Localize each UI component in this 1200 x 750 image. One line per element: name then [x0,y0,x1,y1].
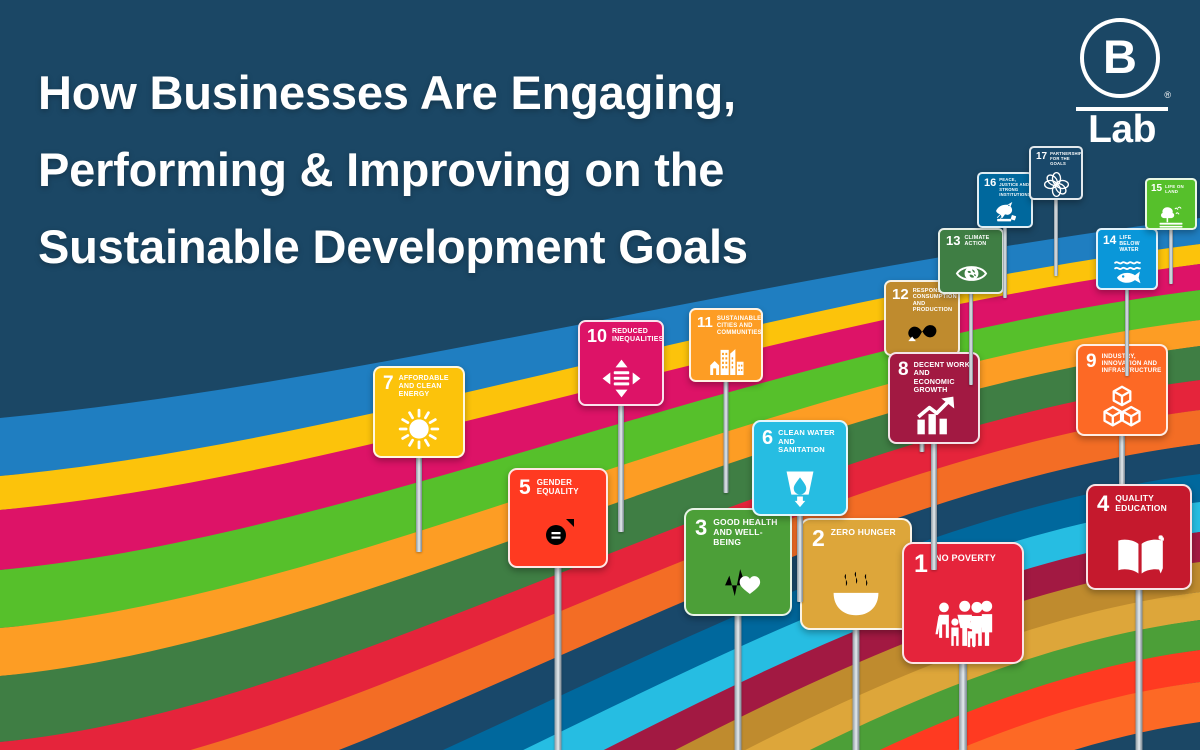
sign-pole [735,612,742,750]
sign-pole [416,454,422,552]
sdg-number: 7 [383,375,394,392]
page-title: How Businesses Are Engaging, Performing … [38,54,918,285]
b-lab-logo: B ® Lab [1068,18,1176,144]
sdg-number: 17 [1036,152,1047,161]
sdg-plate-11[interactable]: 11SUSTAINABLE CITIES AND COMMUNITIES [689,308,763,382]
sdg-number: 16 [984,178,996,188]
sdg-title: REDUCED INEQUALITIES [612,328,663,344]
sign-pole [797,512,803,602]
sign-pole [931,440,937,570]
sign-pole [1169,226,1173,284]
title-line-1: How Businesses Are Engaging, [38,54,918,131]
sdg-plate-header: 10REDUCED INEQUALITIES [587,328,657,345]
tree-birds-icon [1147,201,1195,228]
sdg-plate-6[interactable]: 6CLEAN WATER AND SANITATION [752,420,848,516]
sign-pole [724,378,729,493]
sun-power-icon [375,405,463,453]
sdg-plate-7[interactable]: 7AFFORDABLE AND CLEAN ENERGY [373,366,465,458]
sdg-plate-header: 15LIFE ON LAND [1151,184,1192,194]
sdg-plate-header: 16PEACE, JUSTICE AND STRONG INSTITUTIONS [984,178,1028,198]
sdg-number: 15 [1151,184,1162,193]
sdg-sign-4[interactable]: 4QUALITY EDUCATION [1086,484,1192,750]
sdg-title: QUALITY EDUCATION [1115,494,1184,514]
sign-pole [959,660,967,750]
sdg-number: 14 [1103,235,1116,246]
logo-wordmark: Lab [1068,110,1176,151]
sdg-plate-header: 11SUSTAINABLE CITIES AND COMMUNITIES [697,316,757,337]
sdg-plate-15[interactable]: 15LIFE ON LAND [1145,178,1197,230]
sdg-sign-16[interactable]: 16PEACE, JUSTICE AND STRONG INSTITUTIONS [977,172,1033,302]
sdg-title: CLEAN WATER AND SANITATION [778,429,840,455]
sign-pole [1003,224,1007,298]
sdg-number: 13 [946,235,960,247]
sign-pole [969,290,973,385]
sdg-title: PARTNERSHIPS FOR THE GOALS [1050,152,1083,167]
water-glass-icon [754,460,846,510]
sign-pole [555,564,562,750]
sdg-plate-header: 17PARTNERSHIPS FOR THE GOALS [1036,152,1078,167]
sign-pole [1136,586,1143,750]
logo-letter-b: B [1080,18,1160,98]
sdg-sign-6[interactable]: 6CLEAN WATER AND SANITATION [752,420,848,606]
sdg-title: LIFE ON LAND [1165,184,1192,194]
sign-pole [1054,196,1058,276]
sdg-number: 5 [519,478,531,497]
sdg-number: 6 [762,429,773,447]
cubes-icon [1078,383,1166,431]
sdg-sign-7[interactable]: 7AFFORDABLE AND CLEAN ENERGY [373,366,465,556]
banner-canvas: How Businesses Are Engaging, Performing … [0,0,1200,750]
sdg-sign-11[interactable]: 11SUSTAINABLE CITIES AND COMMUNITIES [689,308,763,497]
sdg-sign-10[interactable]: 10REDUCED INEQUALITIES [578,320,664,536]
sdg-plate-header: 6CLEAN WATER AND SANITATION [762,429,840,455]
sdg-plate-4[interactable]: 4QUALITY EDUCATION [1086,484,1192,590]
sdg-title: SUSTAINABLE CITIES AND COMMUNITIES [717,316,762,337]
book-pencil-icon [1088,528,1190,583]
title-line-3: Sustainable Development Goals [38,208,918,285]
sdg-number: 11 [697,316,713,330]
sdg-number: 10 [587,328,607,345]
sdg-title: AFFORDABLE AND CLEAN ENERGY [399,375,457,399]
family-group-icon [904,593,1022,656]
sdg-number: 12 [892,288,909,302]
equality-arrows-icon [580,356,662,401]
sdg-number: 3 [695,518,707,538]
growth-chart-icon [890,391,978,439]
sdg-number: 4 [1097,494,1109,514]
interlocking-rings-icon [1031,170,1081,198]
city-buildings-icon [691,340,761,378]
sdg-plate-header: 7AFFORDABLE AND CLEAN ENERGY [383,375,457,399]
sdg-plate-10[interactable]: 10REDUCED INEQUALITIES [578,320,664,406]
sdg-plate-17[interactable]: 17PARTNERSHIPS FOR THE GOALS [1029,146,1083,200]
sign-pole [853,626,860,750]
registered-trademark-symbol: ® [1164,90,1171,100]
sign-pole [618,402,624,532]
sdg-sign-17[interactable]: 17PARTNERSHIPS FOR THE GOALS [1029,146,1083,280]
sdg-number: 9 [1086,353,1097,370]
sdg-number: 8 [898,361,909,378]
sdg-plate-16[interactable]: 16PEACE, JUSTICE AND STRONG INSTITUTIONS [977,172,1033,228]
sdg-title: PEACE, JUSTICE AND STRONG INSTITUTIONS [999,178,1030,198]
dove-gavel-icon [979,196,1031,225]
sign-pole [1125,286,1129,376]
sdg-plate-header: 4QUALITY EDUCATION [1097,494,1184,514]
sdg-sign-15[interactable]: 15LIFE ON LAND [1145,178,1197,288]
title-line-2: Performing & Improving on the [38,131,918,208]
